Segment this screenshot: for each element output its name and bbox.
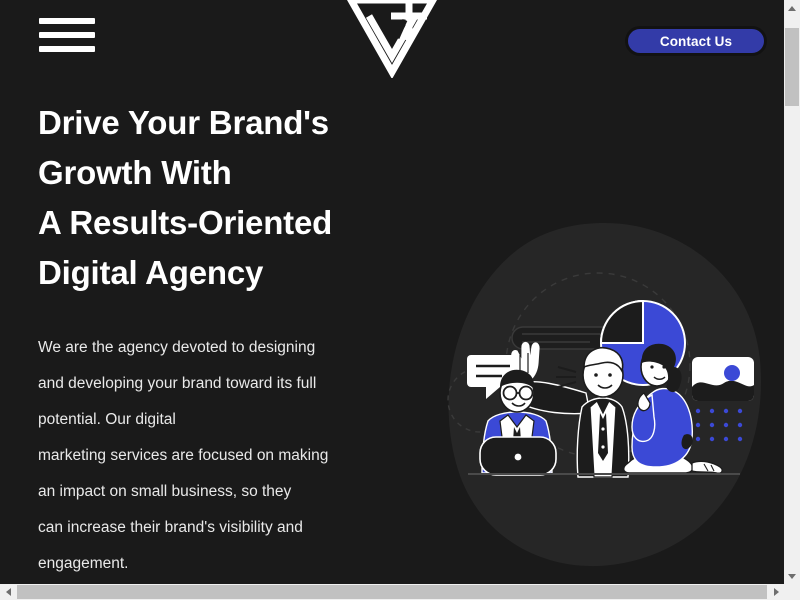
browser-window: Contact Us Drive Your Brand's Growth Wit… — [0, 0, 800, 600]
body-line-2: and developing your brand toward its ful… — [38, 375, 316, 392]
headline-line-4: Digital Agency — [38, 254, 263, 291]
chevron-left-icon — [6, 588, 11, 596]
contact-us-button[interactable]: Contact Us — [625, 26, 767, 56]
hamburger-menu-icon[interactable] — [39, 18, 95, 52]
body-line-6: can increase their brand's visibility an… — [38, 519, 303, 536]
hero-description: We are the agency devoted to designing a… — [38, 330, 410, 582]
body-line-3: potential. Our digital — [38, 411, 176, 428]
scroll-right-arrow-button[interactable] — [768, 584, 784, 600]
headline-line-2: Growth With — [38, 154, 232, 191]
body-line-7: engagement. — [38, 555, 129, 572]
body-line-5: an impact on small business, so they — [38, 483, 291, 500]
body-line-1: We are the agency devoted to designing — [38, 339, 315, 356]
contact-us-label: Contact Us — [660, 34, 732, 49]
hamburger-bar-2 — [39, 32, 95, 38]
body-line-4: marketing services are focused on making — [38, 447, 328, 464]
chevron-down-icon — [788, 574, 796, 579]
hamburger-bar-1 — [39, 18, 95, 24]
scroll-down-arrow-button[interactable] — [784, 568, 800, 584]
chevron-up-icon — [788, 6, 796, 11]
scroll-left-arrow-button[interactable] — [0, 584, 16, 600]
chevron-right-icon — [774, 588, 779, 596]
page-title: Drive Your Brand's Growth With A Results… — [38, 98, 438, 298]
headline-line-1: Drive Your Brand's — [38, 104, 329, 141]
hamburger-bar-3 — [39, 46, 95, 52]
horizontal-scrollbar-thumb[interactable] — [17, 585, 767, 599]
site-header: Contact Us — [0, 0, 784, 80]
image-card — [692, 357, 754, 401]
scrollbar-corner — [784, 584, 800, 600]
team-analytics-illustration — [440, 215, 770, 575]
page-viewport: Contact Us Drive Your Brand's Growth Wit… — [0, 0, 784, 584]
headline-line-3: A Results-Oriented — [38, 204, 332, 241]
scroll-up-arrow-button[interactable] — [784, 0, 800, 16]
vertical-scrollbar-thumb[interactable] — [785, 28, 799, 106]
vf-monogram-logo[interactable] — [347, 0, 437, 78]
